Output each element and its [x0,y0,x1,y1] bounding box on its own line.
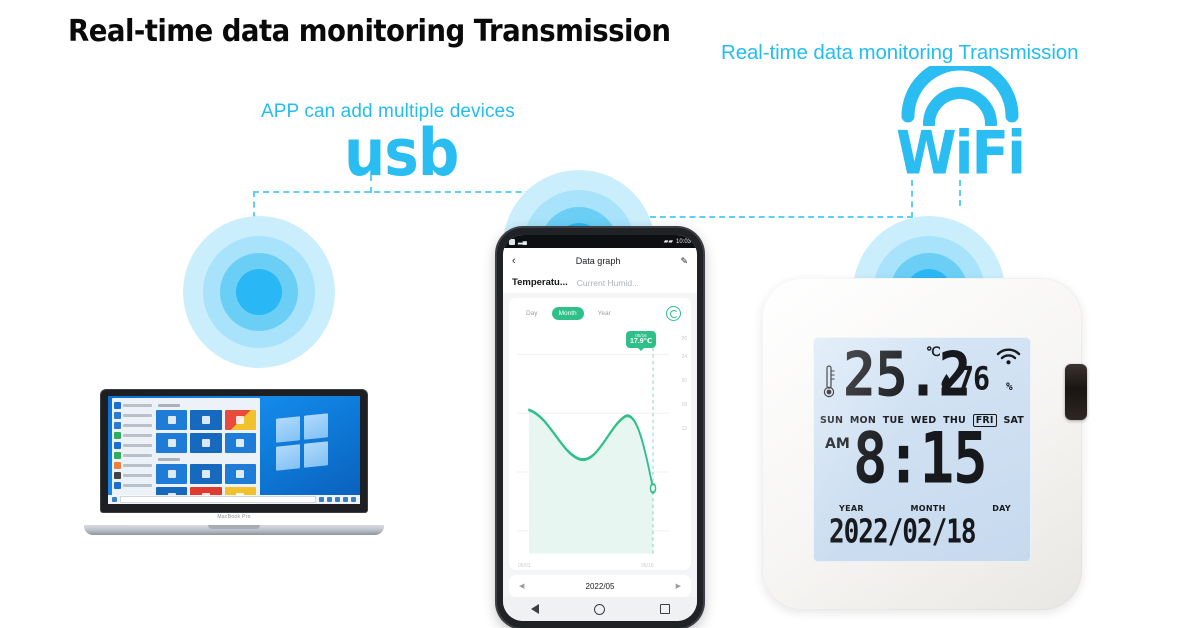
signal-icon: ▂▄ [518,238,527,245]
app-label [123,434,152,437]
list-item[interactable] [114,482,152,489]
tile[interactable] [190,410,221,430]
y-tick-1: 24 [681,354,687,360]
chart-tooltip: 05/16 17.9℃ [626,331,656,348]
tab-humidity[interactable]: Current Humid... [577,278,639,288]
taskbar-app-icon[interactable] [335,497,340,502]
water-drop-icon [941,374,952,389]
date-field-labels: YEAR MONTH DAY [839,504,1011,513]
current-month-label: 2022/05 [586,582,615,591]
tile[interactable] [225,433,256,453]
usb-wordmark: usb [344,120,458,185]
wifi-icon [996,347,1021,365]
page-title: Real-time data monitoring Transmission [68,14,670,49]
start-button-icon[interactable] [112,497,117,502]
lcd-display: 25.2 ℃ 76 % SUN MON TUE WED THU FRI [813,337,1031,562]
month-selector[interactable]: ◀ 2022/05 ▶ [509,575,691,597]
app-label [123,484,152,487]
start-menu-app-list[interactable] [112,398,154,496]
pencil-icon[interactable]: ✎ [680,256,688,267]
phone-tabs[interactable]: Temperatu... Current Humid... [503,274,697,293]
clock-time: 8:15 [853,425,986,495]
x-tick-start: 05/01 [518,563,531,569]
app-icon [114,422,121,429]
app-label [123,464,152,467]
segment-day[interactable]: Day [519,307,545,320]
app-icon [114,482,121,489]
tile[interactable] [190,433,221,453]
power-button[interactable] [1065,364,1087,420]
phone-app-bar: ‹ Data graph ✎ [503,248,697,274]
day-label: DAY [992,504,1011,513]
list-item[interactable] [114,442,152,449]
android-nav-bar[interactable] [503,597,697,621]
windows-logo-icon [276,413,328,470]
app-icon [114,442,121,449]
status-right-icons: ▰▰ 10:03 [664,238,691,245]
tile-group-one[interactable] [156,410,256,453]
ripple-laptop-core [236,269,282,315]
wifi-logo: WiFi [884,66,1036,182]
tile[interactable] [156,410,187,430]
app-bar-title: Data graph [576,256,621,266]
tile-group-label [158,404,180,407]
grid-icon [509,239,515,245]
tile-group-label [158,458,180,461]
laptop-base-notch [208,525,260,529]
tab-temperature[interactable]: Temperatu... [512,277,568,288]
list-item[interactable] [114,472,152,479]
app-label [123,424,152,427]
list-item[interactable] [114,432,152,439]
back-icon[interactable]: ‹ [512,256,516,267]
y-tick-2: 20 [681,378,687,384]
list-item[interactable] [114,452,152,459]
tile[interactable] [225,410,256,430]
temperature-unit: ℃ [926,346,941,359]
y-tick-4: 12 [681,426,687,432]
next-month-button[interactable]: ▶ [676,582,681,590]
start-menu-tiles[interactable] [154,398,260,496]
laptop-base [84,525,384,535]
meridiem-indicator: AM [825,436,850,452]
y-tick-0: 26 [681,336,687,342]
phone-screen: ▂▄ ▰▰ 10:03 ‹ Data graph ✎ Temperatu... … [503,235,697,621]
tooltip-date: 05/16 [630,333,652,338]
app-icon [114,432,121,439]
segment-month[interactable]: Month [552,307,584,320]
taskbar-search-input[interactable] [120,496,316,503]
list-item[interactable] [114,422,152,429]
app-icon [114,452,121,459]
tooltip-value: 17.9℃ [630,338,652,346]
y-tick-3: 18 [681,402,687,408]
battery-icon: ▰▰ [664,238,673,245]
laptop-device: MacBook Pro [84,390,384,535]
poster-stage: Real-time data monitoring Transmission R… [0,0,1200,628]
windows-taskbar[interactable] [108,495,360,504]
tile[interactable] [190,464,221,484]
app-label [123,444,152,447]
taskbar-app-icon[interactable] [351,497,356,502]
app-label [123,414,152,417]
app-icon [114,472,121,479]
weekday-sun: SUN [820,415,843,426]
refresh-icon[interactable] [666,306,681,321]
sensor-device: 25.2 ℃ 76 % SUN MON TUE WED THU FRI [762,278,1082,610]
app-icon [114,462,121,469]
list-item[interactable] [114,402,152,409]
humidity-value: 76 [957,363,989,395]
start-menu[interactable] [112,398,260,496]
app-icon [114,402,121,409]
date-value: 2022/02/18 [829,516,976,549]
month-label: MONTH [910,504,945,513]
phone-device: ▂▄ ▰▰ 10:03 ‹ Data graph ✎ Temperatu... … [497,228,703,628]
prev-month-button[interactable]: ◀ [519,582,524,590]
tile[interactable] [156,464,187,484]
range-segment-control[interactable]: Day Month Year [509,306,691,321]
segment-year[interactable]: Year [591,307,618,320]
x-tick-end: 05/16 [641,563,654,569]
wifi-wordmark: WiFi [884,124,1036,183]
laptop-screen [108,396,360,504]
recents-square-icon[interactable] [660,604,670,614]
taskbar-app-icon[interactable] [327,497,332,502]
humidity-unit: % [1006,380,1013,393]
app-label [123,474,152,477]
right-heading: Real-time data monitoring Transmission [721,41,1078,65]
thermometer-icon [823,365,835,399]
phone-status-bar: ▂▄ ▰▰ 10:03 [503,235,697,248]
wifi-arcs-icon [884,66,1036,126]
laptop-lid: MacBook Pro [101,390,367,512]
year-label: YEAR [839,504,864,513]
laptop-bezel-label: MacBook Pro [101,514,367,520]
taskbar-app-icon[interactable] [319,497,324,502]
connector-usb-vertical [370,175,372,193]
tile[interactable] [156,433,187,453]
list-item[interactable] [114,412,152,419]
app-label [123,404,152,407]
chart-svg [509,325,691,570]
chart-marker-point [650,484,655,492]
back-triangle-icon[interactable] [531,604,539,614]
status-time: 10:03 [676,239,691,245]
weekday-sat: SAT [1003,415,1024,426]
connector-right-vertical [911,180,913,218]
tile[interactable] [225,464,256,484]
temperature-area-chart: 26 24 20 18 12 05/01 05/16 05/16 17.9℃ [509,325,691,570]
app-icon [114,412,121,419]
app-label [123,454,152,457]
chart-area-fill [529,410,653,554]
status-left-icons: ▂▄ [509,238,527,245]
home-circle-icon[interactable] [594,604,605,615]
chart-card: Day Month Year [509,298,691,570]
connector-left-horizontal [253,191,562,193]
taskbar-app-icon[interactable] [343,497,348,502]
connector-wifi-vertical [959,180,961,206]
list-item[interactable] [114,462,152,469]
